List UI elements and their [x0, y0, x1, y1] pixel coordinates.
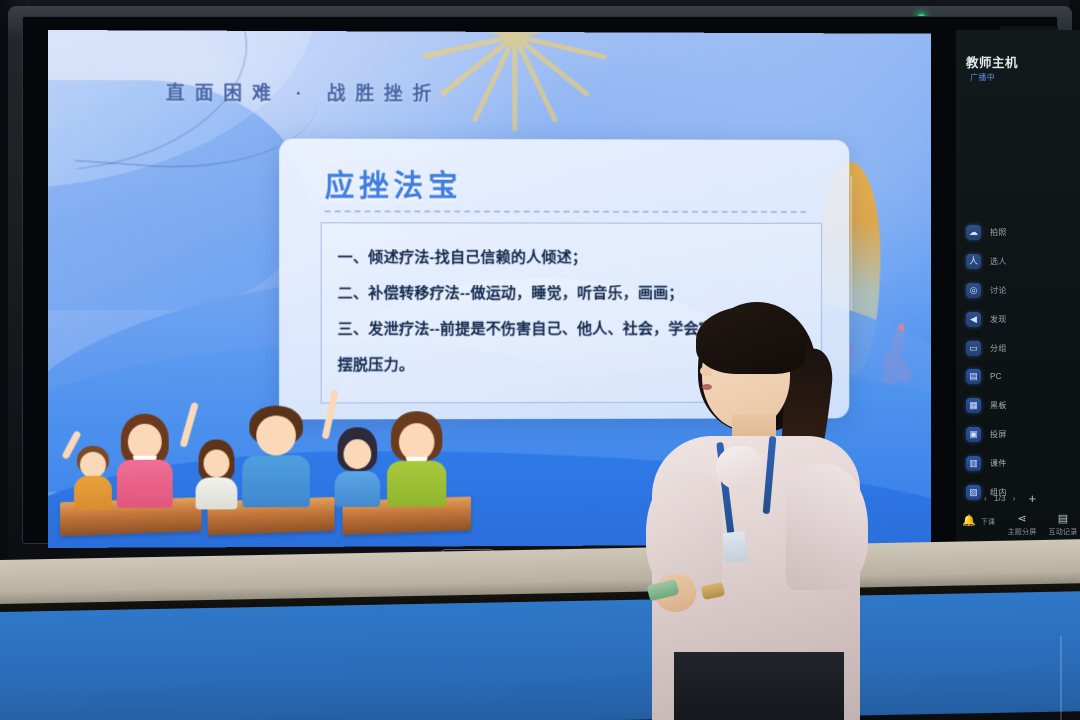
- menu-label: 发现: [990, 314, 1007, 325]
- blackboard-icon: ▦: [966, 398, 981, 413]
- head: [256, 415, 296, 455]
- menu-label: 分组: [990, 343, 1007, 354]
- teacher-control-panel[interactable]: 教师主机 广播中 ☁ 拍照 人 选人 ◎ 讨论: [956, 30, 1080, 548]
- menu-label: PC: [990, 372, 1002, 381]
- torso: [387, 461, 446, 507]
- neck-bow: [716, 446, 762, 490]
- menu-item-discussion[interactable]: ◎ 讨论: [962, 276, 1074, 305]
- panel-pagination[interactable]: ‹ 1/3 › +: [984, 490, 1080, 506]
- action-label: 主题分屏: [1002, 527, 1042, 537]
- classroom-scene: 直面困难 · 战胜挫折 应挫法宝 一、倾述疗法-找自己信赖的人倾述； 二、补偿转…: [0, 0, 1080, 720]
- head: [204, 450, 230, 478]
- page-indicator: 1/3: [994, 493, 1006, 503]
- hair-front: [696, 306, 806, 374]
- torso: [242, 455, 309, 507]
- slide-header-title: 直面困难 · 战胜挫折: [166, 78, 591, 106]
- shoulder-left: [646, 472, 722, 592]
- skirt: [674, 652, 844, 720]
- group-icon: ▧: [966, 485, 981, 500]
- id-badge: [722, 531, 747, 563]
- card-line-1: 一、倾述疗法-找自己信赖的人倾述；: [338, 245, 588, 267]
- bell-icon: 🔔: [962, 516, 976, 527]
- megaphone-icon: ◀: [966, 312, 981, 327]
- menu-label: 选人: [990, 256, 1007, 267]
- head: [399, 423, 435, 461]
- card-line-2: 二、补偿转移疗法--做运动，睡觉，听音乐，画画；: [338, 281, 684, 303]
- menu-label: 拍照: [990, 227, 1007, 238]
- menu-item-blackboard[interactable]: ▦ 黑板: [962, 391, 1074, 420]
- cast-icon: ▣: [966, 427, 981, 442]
- card-divider: [325, 210, 807, 213]
- next-page-arrow-icon[interactable]: ›: [1013, 493, 1016, 503]
- wall-seam: [1060, 636, 1062, 720]
- card-line-4: 摆脱压力。: [338, 353, 415, 375]
- person-icon: 人: [966, 254, 981, 269]
- head: [344, 439, 372, 469]
- shoulder-right: [786, 464, 868, 590]
- comment-icon: ◎: [966, 283, 981, 298]
- menu-label: 课件: [990, 458, 1007, 469]
- menu-item-grouping[interactable]: ▭ 分组: [962, 334, 1074, 363]
- head: [80, 452, 106, 478]
- menu-label: 投屏: [990, 429, 1007, 440]
- panel-host-title: 教师主机: [966, 52, 1018, 71]
- interaction-record-button[interactable]: ▤ 互动记录: [1044, 514, 1080, 537]
- wall-lower-blue: [0, 591, 1080, 720]
- student-1: [70, 436, 116, 508]
- student-6: [384, 411, 449, 507]
- split-screen-button[interactable]: ⋖ 主题分屏: [1002, 514, 1042, 537]
- menu-item-broadcast[interactable]: ◀ 发现: [962, 305, 1074, 334]
- panel-menu-group-sources: ▤ PC ▦ 黑板 ▣ 投屏 ▥ 课件: [962, 362, 1074, 507]
- lips: [702, 384, 712, 390]
- raised-arm: [179, 402, 198, 448]
- interactive-flat-panel: 直面困难 · 战胜挫折 应挫法宝 一、倾述疗法-找自己信赖的人倾述； 二、补偿转…: [8, 6, 1072, 566]
- action-label: 下课: [981, 517, 995, 527]
- add-page-button[interactable]: +: [1029, 491, 1037, 506]
- panel-screen: 直面困难 · 战胜挫折 应挫法宝 一、倾述疗法-找自己信赖的人倾述； 二、补偿转…: [22, 16, 1058, 544]
- pc-icon: ▤: [966, 369, 981, 384]
- teacher-person: [640, 296, 870, 720]
- head: [128, 424, 162, 460]
- menu-item-screencast[interactable]: ▣ 投屏: [962, 420, 1074, 449]
- torso: [117, 460, 173, 508]
- student-3: [192, 432, 242, 508]
- student-4: [239, 405, 312, 507]
- torso: [335, 471, 381, 507]
- action-label: 互动记录: [1044, 527, 1080, 537]
- menu-item-courseware[interactable]: ▥ 课件: [962, 449, 1074, 478]
- panel-menu-group-primary: ☁ 拍照 人 选人 ◎ 讨论 ◀ 发现: [962, 218, 1074, 363]
- menu-item-pc[interactable]: ▤ PC: [962, 362, 1074, 391]
- student-2: [114, 412, 176, 508]
- student-5: [331, 423, 384, 507]
- torso: [196, 477, 238, 509]
- record-icon: ▤: [1044, 514, 1080, 525]
- students-illustration: [56, 383, 473, 544]
- card-heading: 应挫法宝: [325, 161, 463, 205]
- menu-label: 黑板: [990, 400, 1007, 411]
- end-class-button[interactable]: 🔔 下课: [962, 516, 995, 527]
- torso: [74, 476, 112, 510]
- raised-arm: [322, 389, 339, 439]
- share-icon: ⋖: [1002, 514, 1042, 525]
- menu-label: 讨论: [990, 285, 1007, 296]
- broadcast-status-badge: 广播中: [970, 72, 995, 83]
- monitor-icon: ▭: [966, 341, 981, 356]
- courseware-icon: ▥: [966, 456, 981, 471]
- prev-page-arrow-icon[interactable]: ‹: [984, 493, 987, 503]
- menu-item-pick-student[interactable]: 人 选人: [962, 247, 1074, 276]
- menu-item-capture[interactable]: ☁ 拍照: [962, 218, 1074, 247]
- cloud-icon: ☁: [966, 225, 981, 240]
